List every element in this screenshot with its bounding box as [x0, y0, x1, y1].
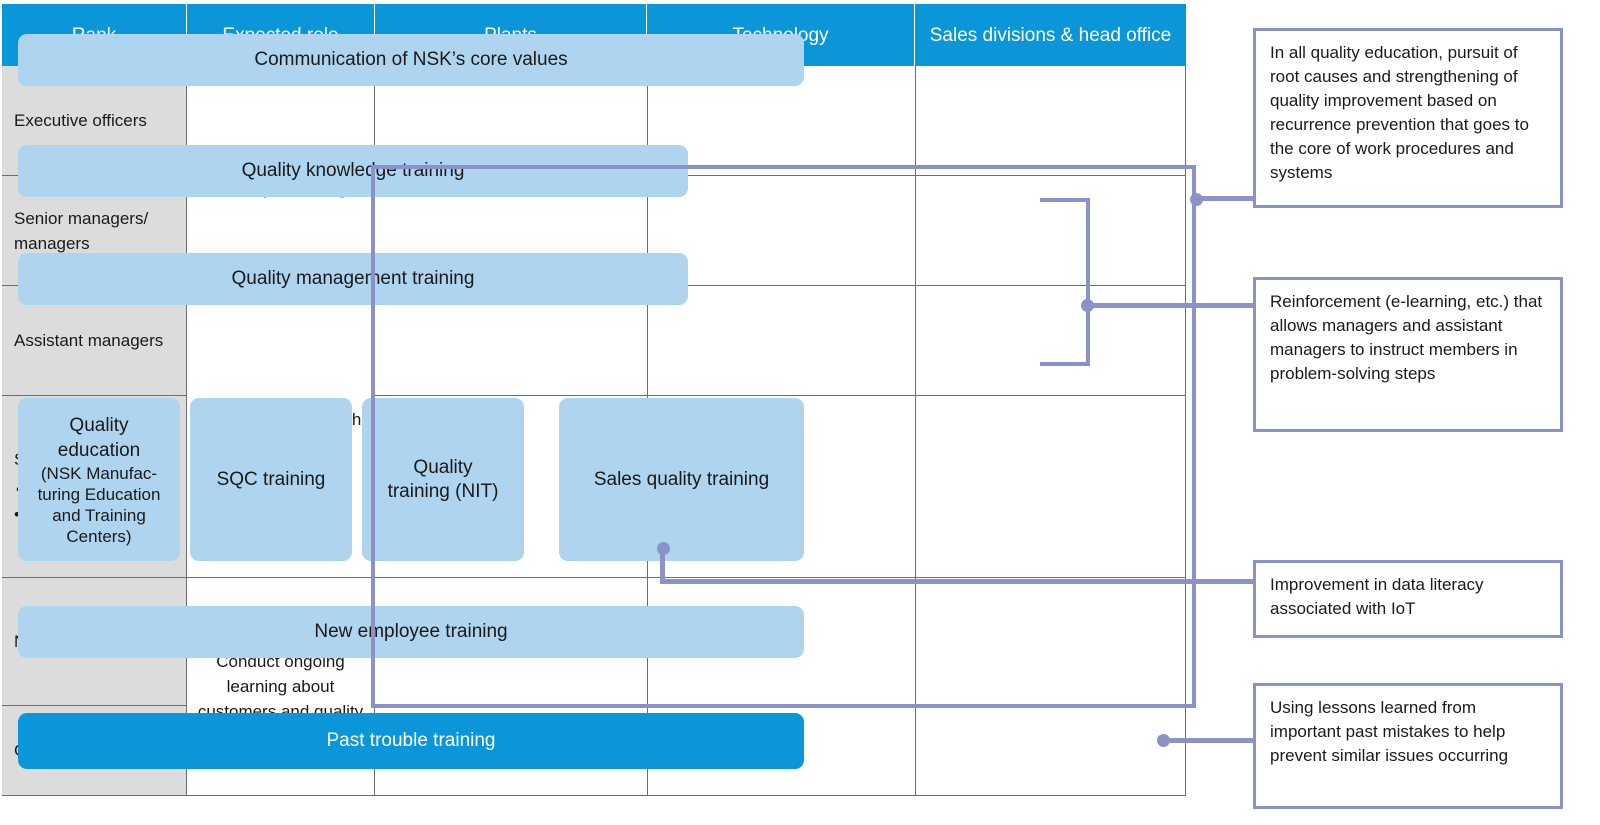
- note-text: Reinforcement (e-learning, etc.) that al…: [1270, 292, 1542, 383]
- program-bar-title: Quality education: [28, 413, 170, 463]
- note-text: In all quality education, pursuit of roo…: [1270, 43, 1529, 182]
- note-text: Improvement in data literacy associated …: [1270, 575, 1484, 618]
- connector-line-note-3-horizontal: [660, 579, 1256, 584]
- table-header-sales-head-office: Sales divisions & head office: [915, 4, 1186, 66]
- program-bar-label: Communication of NSK’s core values: [254, 48, 567, 72]
- rank-label: Senior managers/ managers: [14, 206, 174, 256]
- note-box-reinforcement: Reinforcement (e-learning, etc.) that al…: [1253, 277, 1563, 432]
- program-bar-core-values[interactable]: Communication of NSK’s core values: [18, 34, 804, 86]
- note-text: Using lessons learned from important pas…: [1270, 698, 1508, 765]
- note-box-data-literacy: Improvement in data literacy associated …: [1253, 560, 1563, 638]
- quality-education-diagram: Rank Expected role Plants Technology Sal…: [0, 0, 1600, 825]
- connector-bracket-knowledge-management: [1040, 198, 1090, 366]
- program-bar-label: Past trouble training: [327, 729, 496, 753]
- rank-label: Assistant managers: [14, 328, 174, 353]
- program-bar-subtitle: (NSK Manufac-turing Education and Traini…: [28, 463, 170, 547]
- connector-line-note-2: [1087, 303, 1256, 308]
- connector-line-note-1: [1196, 196, 1256, 201]
- note-box-quality-education: In all quality education, pursuit of roo…: [1253, 28, 1563, 208]
- program-bar-label: SQC training: [217, 468, 326, 492]
- rank-label: Executive officers: [14, 108, 174, 133]
- program-bar-past-trouble-training[interactable]: Past trouble training: [18, 713, 804, 769]
- program-bar-quality-education[interactable]: Quality education (NSK Manufac-turing Ed…: [18, 398, 180, 561]
- note-box-past-mistakes: Using lessons learned from important pas…: [1253, 683, 1563, 809]
- program-bar-sqc-training[interactable]: SQC training: [190, 398, 352, 561]
- connector-line-note-4: [1163, 738, 1256, 743]
- table-header-sales-head-office-label: Sales divisions & head office: [930, 24, 1172, 47]
